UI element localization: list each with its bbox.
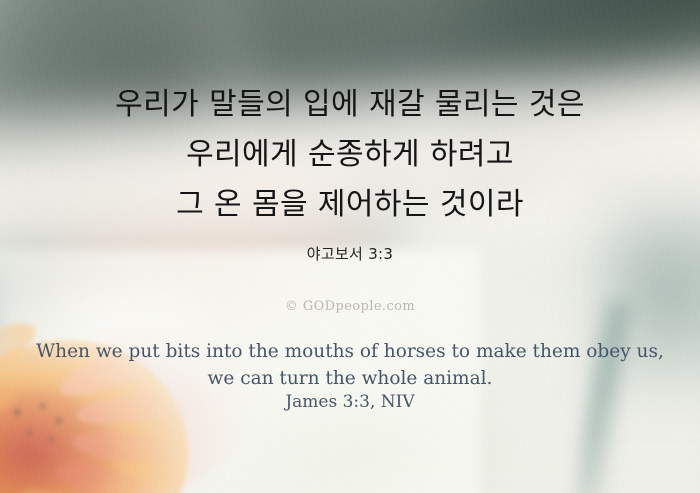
english-verse-text: When we put bits into the mouths of hors…	[0, 338, 700, 392]
english-verse-line-2: we can turn the whole animal.	[0, 365, 700, 392]
verse-card: 우리가 말들의 입에 재갈 물리는 것은 우리에게 순종하게 하려고 그 온 몸…	[0, 0, 700, 493]
watermark-godpeople: © GODpeople.com	[0, 299, 700, 314]
korean-verse-line-2: 우리에게 순종하게 하려고	[0, 130, 700, 180]
text-layer: 우리가 말들의 입에 재갈 물리는 것은 우리에게 순종하게 하려고 그 온 몸…	[0, 0, 700, 493]
english-verse-reference: James 3:3, NIV	[0, 392, 700, 412]
korean-verse-text: 우리가 말들의 입에 재갈 물리는 것은 우리에게 순종하게 하려고 그 온 몸…	[0, 80, 700, 230]
korean-verse-line-1: 우리가 말들의 입에 재갈 물리는 것은	[0, 80, 700, 130]
english-verse-line-1: When we put bits into the mouths of hors…	[0, 338, 700, 365]
korean-verse-line-3: 그 온 몸을 제어하는 것이라	[0, 180, 700, 230]
korean-verse-reference: 야고보서 3:3	[0, 243, 700, 264]
